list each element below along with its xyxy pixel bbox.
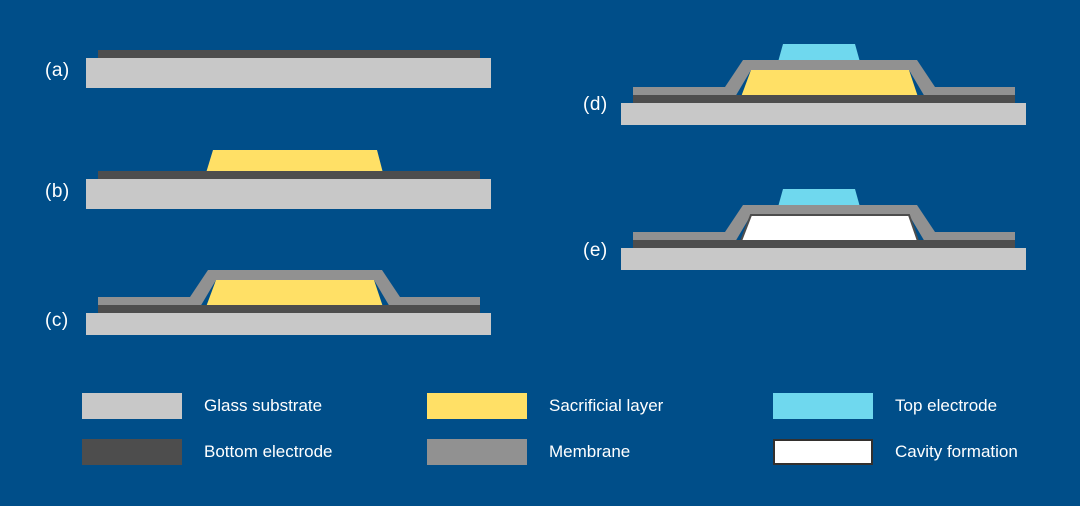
sacrificial-layer-trapezoid <box>206 150 383 173</box>
legend-column-3: Top electrode Cavity formation <box>773 380 1080 480</box>
panel-label-e: (e) <box>583 240 608 262</box>
legend-item-sacrificial-layer: Sacrificial layer <box>427 392 663 420</box>
panel-label-b: (b) <box>45 181 70 203</box>
legend-label-membrane: Membrane <box>549 442 630 462</box>
glass-substrate-layer <box>86 313 491 335</box>
sacrificial-layer-trapezoid <box>206 280 383 307</box>
legend-item-cavity-formation: Cavity formation <box>773 438 1018 466</box>
glass-substrate-layer <box>621 103 1026 125</box>
top-electrode-trapezoid <box>778 44 860 62</box>
cavity-region <box>741 215 918 241</box>
panel-a-cross-section <box>80 45 500 95</box>
panel-label-d: (d) <box>583 94 608 116</box>
legend-item-membrane: Membrane <box>427 438 630 466</box>
panel-label-a: (a) <box>45 60 70 82</box>
top-electrode-trapezoid <box>778 189 860 207</box>
glass-substrate-layer <box>86 58 491 88</box>
panel-b-cross-section <box>80 145 500 210</box>
legend-swatch-membrane <box>427 439 527 465</box>
legend: Glass substrate Bottom electrode Sacrifi… <box>0 380 1080 480</box>
legend-label-glass-substrate: Glass substrate <box>204 396 322 416</box>
legend-label-cavity-formation: Cavity formation <box>895 442 1018 462</box>
legend-swatch-glass-substrate <box>82 393 182 419</box>
legend-item-bottom-electrode: Bottom electrode <box>82 438 333 466</box>
legend-swatch-cavity-formation <box>773 439 873 465</box>
figure-canvas: (a) (b) (c) (d) (e) <box>0 0 1080 506</box>
legend-swatch-sacrificial-layer <box>427 393 527 419</box>
legend-label-bottom-electrode: Bottom electrode <box>204 442 333 462</box>
legend-column-1: Glass substrate Bottom electrode <box>82 380 422 480</box>
legend-swatch-top-electrode <box>773 393 873 419</box>
sacrificial-layer-trapezoid <box>741 70 918 97</box>
panel-d-cross-section <box>615 40 1035 125</box>
legend-label-sacrificial-layer: Sacrificial layer <box>549 396 663 416</box>
panel-label-c: (c) <box>45 310 69 332</box>
panel-e-cross-section <box>615 185 1035 270</box>
legend-swatch-bottom-electrode <box>82 439 182 465</box>
glass-substrate-layer <box>621 248 1026 270</box>
panel-c-cross-section <box>80 265 500 335</box>
glass-substrate-layer <box>86 179 491 209</box>
legend-label-top-electrode: Top electrode <box>895 396 997 416</box>
legend-item-top-electrode: Top electrode <box>773 392 997 420</box>
legend-item-glass-substrate: Glass substrate <box>82 392 322 420</box>
legend-column-2: Sacrificial layer Membrane <box>427 380 767 480</box>
